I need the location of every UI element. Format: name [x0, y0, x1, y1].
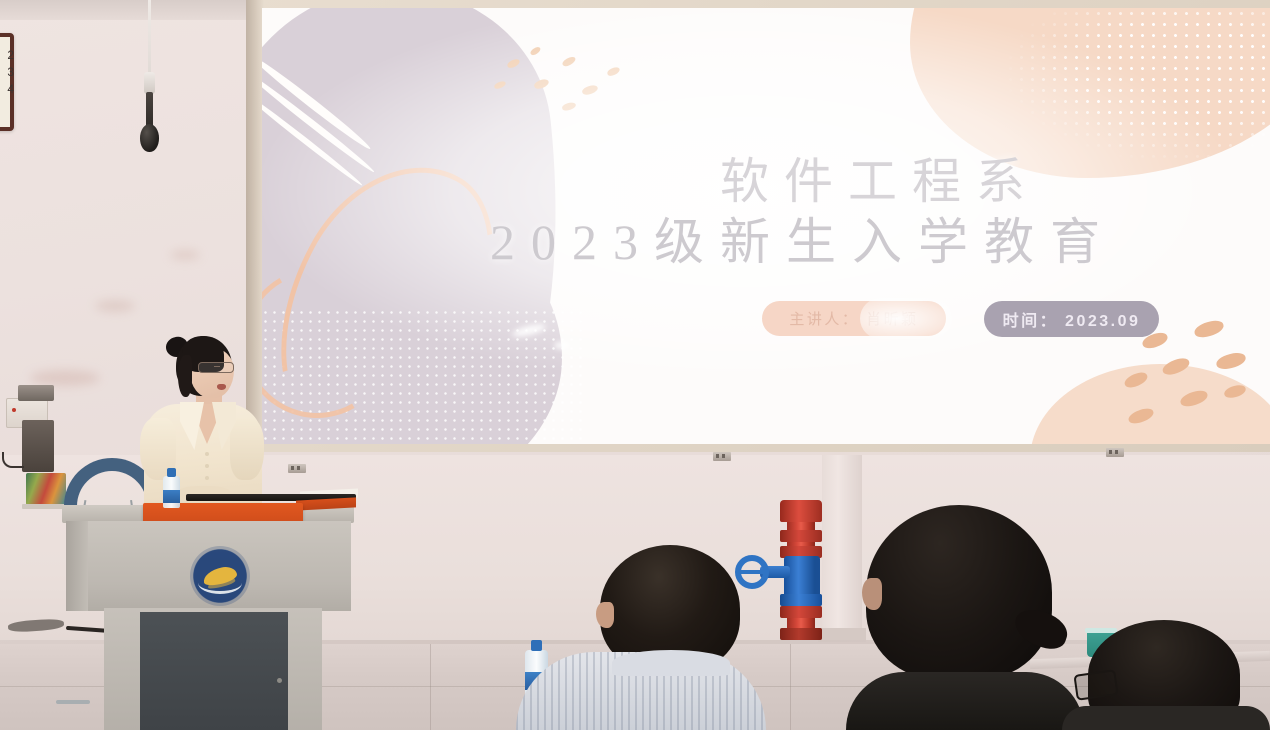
screen-mount-bracket — [288, 464, 306, 473]
presenter-hair-side — [178, 355, 192, 397]
slide-speck — [529, 45, 541, 56]
school-emblem-icon — [190, 546, 250, 606]
outlet-cable — [2, 452, 24, 468]
standpipe-flange — [780, 594, 822, 606]
standpipe-base — [780, 628, 822, 640]
audience-ear — [862, 578, 882, 610]
audience-shirt-far-right — [1062, 706, 1270, 730]
outlet-indicator-icon — [12, 408, 16, 412]
podium-panel-knob[interactable] — [277, 678, 282, 683]
slide-speaker-badge: 主讲人： 肖昕颖 — [762, 301, 946, 336]
bottle-cap — [167, 468, 176, 477]
slide-speaker-badge-label: 主讲人： 肖昕颖 — [789, 308, 918, 329]
wall-conduit-box — [18, 385, 54, 401]
wall-room-number-sign: 2 3 4 — [0, 33, 14, 131]
slide-speck — [561, 55, 577, 68]
floor-tile-seam — [790, 644, 791, 730]
presenter-mouth — [217, 384, 226, 390]
standpipe-flange — [780, 606, 822, 618]
presenter-button — [205, 452, 209, 456]
podium-water-bottle[interactable] — [163, 468, 180, 508]
screen-mount-bracket — [1106, 448, 1124, 457]
projected-slide: 软件工程系 2023级新生入学教育 主讲人： 肖昕颖 时间： 2023.09 — [262, 8, 1270, 444]
room-number-2: 3 — [0, 64, 14, 81]
slide-petal — [1215, 351, 1247, 372]
chair-leg — [56, 700, 90, 704]
slide-date-badge-label: 时间： 2023.09 — [1003, 307, 1141, 331]
slide-speck — [561, 101, 576, 112]
audience-head-front-right — [866, 505, 1052, 680]
presenter-sleeve-right — [230, 418, 264, 480]
presenter-button — [205, 476, 209, 480]
screen-mount-bracket — [713, 452, 731, 461]
slide-speck — [581, 84, 599, 97]
podium-body-side — [66, 521, 88, 611]
podium-front-panel — [140, 612, 288, 730]
presenter-glasses — [198, 362, 234, 373]
wall-smudge — [30, 370, 100, 386]
room-number-3: 4 — [0, 81, 14, 98]
slide-peach-blob-bottom-right — [1030, 364, 1270, 444]
room-number-list: 2 3 4 — [0, 47, 14, 98]
teal-cup-rim — [1085, 628, 1117, 633]
wall-smudge — [170, 250, 200, 260]
microphone-icon — [140, 124, 159, 152]
room-number-1: 2 — [0, 47, 14, 64]
wall-power-strip[interactable] — [22, 420, 54, 472]
emblem-arc-shape — [198, 572, 242, 594]
microphone-joint — [144, 72, 155, 94]
standpipe-flange — [780, 530, 822, 542]
audience-shirt-dark — [846, 672, 1084, 730]
wall-column — [822, 455, 862, 640]
slide-petal — [1193, 318, 1226, 340]
presenter-button — [205, 464, 209, 468]
floor-tile-seam — [430, 644, 431, 730]
bottle-cap — [531, 640, 542, 651]
shelf-colorful-item — [26, 473, 66, 505]
lecture-hall-photo: 2 3 4 — [0, 0, 1270, 730]
projector-glare — [554, 342, 570, 349]
wall-smudge — [95, 300, 135, 312]
audience-collar — [612, 650, 730, 676]
audience-ear — [596, 602, 614, 628]
slide-title-line-2: 2023级新生入学教育 — [490, 202, 1116, 274]
valve-wheel-spoke — [737, 570, 767, 574]
standpipe-top-bell — [780, 500, 822, 522]
standpipe-valve-body — [784, 556, 820, 598]
slide-speck — [606, 66, 621, 78]
bottle-label — [163, 490, 180, 503]
slide-date-badge: 时间： 2023.09 — [984, 301, 1159, 337]
